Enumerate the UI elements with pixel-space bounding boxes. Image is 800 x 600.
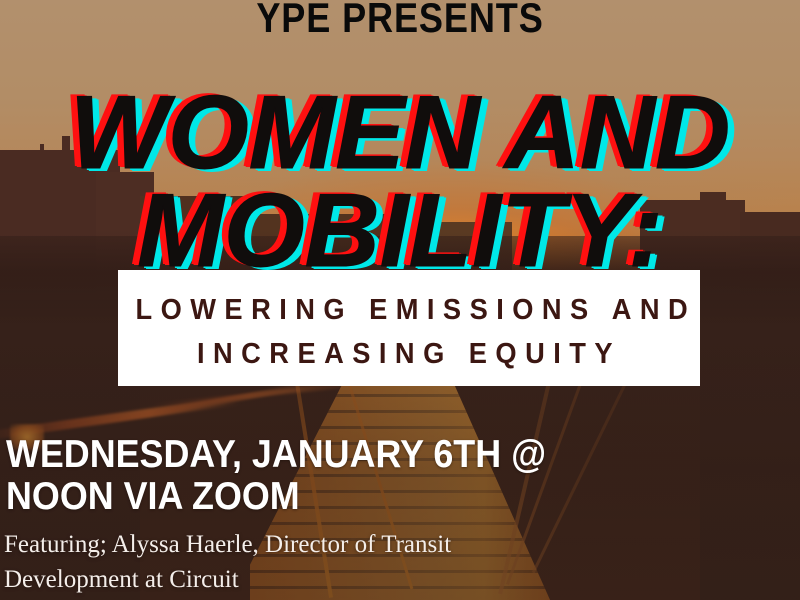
headline-line-2-text: MOBILITY: xyxy=(137,186,663,278)
event-datetime-line-2: NOON VIA ZOOM xyxy=(6,476,546,518)
headline-line-1-text: WOMEN AND xyxy=(70,88,731,180)
event-datetime-line-1: WEDNESDAY, JANUARY 6TH @ xyxy=(6,434,546,476)
event-poster: YPE PRESENTS WOMEN AND MOBILITY: LOWERIN… xyxy=(0,0,800,600)
headline-line-1: WOMEN AND xyxy=(0,88,800,180)
subtitle-line-2: INCREASING EQUITY xyxy=(135,338,682,371)
headline-line-2: MOBILITY: xyxy=(0,186,800,278)
featuring-line-2: Development at Circuit xyxy=(4,563,451,598)
subtitle-box: LOWERING EMISSIONS AND INCREASING EQUITY xyxy=(118,270,700,386)
featuring-credit: Featuring; Alyssa Haerle, Director of Tr… xyxy=(4,528,451,597)
poster-kicker: YPE PRESENTS xyxy=(56,0,744,40)
subtitle-line-1: LOWERING EMISSIONS AND xyxy=(135,294,682,327)
event-datetime: WEDNESDAY, JANUARY 6TH @ NOON VIA ZOOM xyxy=(6,434,546,518)
featuring-line-1: Featuring; Alyssa Haerle, Director of Tr… xyxy=(4,528,451,563)
